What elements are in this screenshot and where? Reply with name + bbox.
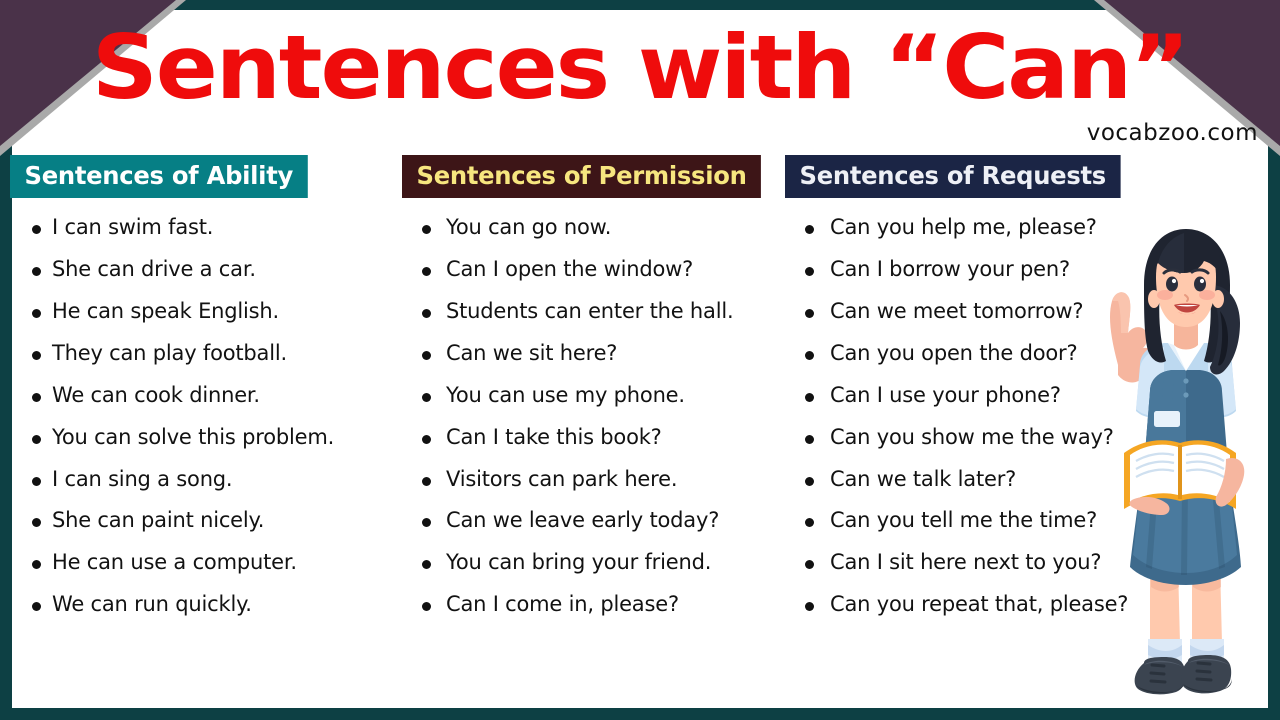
list-item: She can drive a car. (10, 256, 392, 284)
list-item: You can bring your friend. (402, 549, 770, 577)
list-item: I can swim fast. (10, 214, 392, 242)
list-item: He can use a computer. (10, 549, 392, 577)
column-permission: Sentences of Permission You can go now. … (402, 155, 770, 633)
sentence-list-ability: I can swim fast. She can drive a car. He… (10, 214, 392, 619)
sentence-list-permission: You can go now. Can I open the window? S… (402, 214, 770, 619)
column-header-requests: Sentences of Requests (785, 155, 1120, 198)
list-item: She can paint nicely. (10, 507, 392, 535)
list-item: You can solve this problem. (10, 424, 392, 452)
list-item: We can cook dinner. (10, 382, 392, 410)
list-item: I can sing a song. (10, 466, 392, 494)
list-item: Can I take this book? (402, 424, 770, 452)
list-item: Students can enter the hall. (402, 298, 770, 326)
schoolgirl-illustration (1088, 215, 1268, 710)
list-item: He can speak English. (10, 298, 392, 326)
site-watermark: vocabzoo.com (1087, 120, 1258, 146)
list-item: Can we leave early today? (402, 507, 770, 535)
list-item: Can I come in, please? (402, 591, 770, 619)
list-item: We can run quickly. (10, 591, 392, 619)
list-item: Visitors can park here. (402, 466, 770, 494)
list-item: Can we sit here? (402, 340, 770, 368)
poster-root: Sentences with “Can” vocabzoo.com Senten… (0, 0, 1280, 720)
list-item: You can use my phone. (402, 382, 770, 410)
column-ability: Sentences of Ability I can swim fast. Sh… (10, 155, 392, 633)
list-item: Can I open the window? (402, 256, 770, 284)
column-header-permission: Sentences of Permission (402, 155, 761, 198)
list-item: You can go now. (402, 214, 770, 242)
column-header-ability: Sentences of Ability (10, 155, 308, 198)
list-item: They can play football. (10, 340, 392, 368)
page-title: Sentences with “Can” (0, 22, 1280, 114)
